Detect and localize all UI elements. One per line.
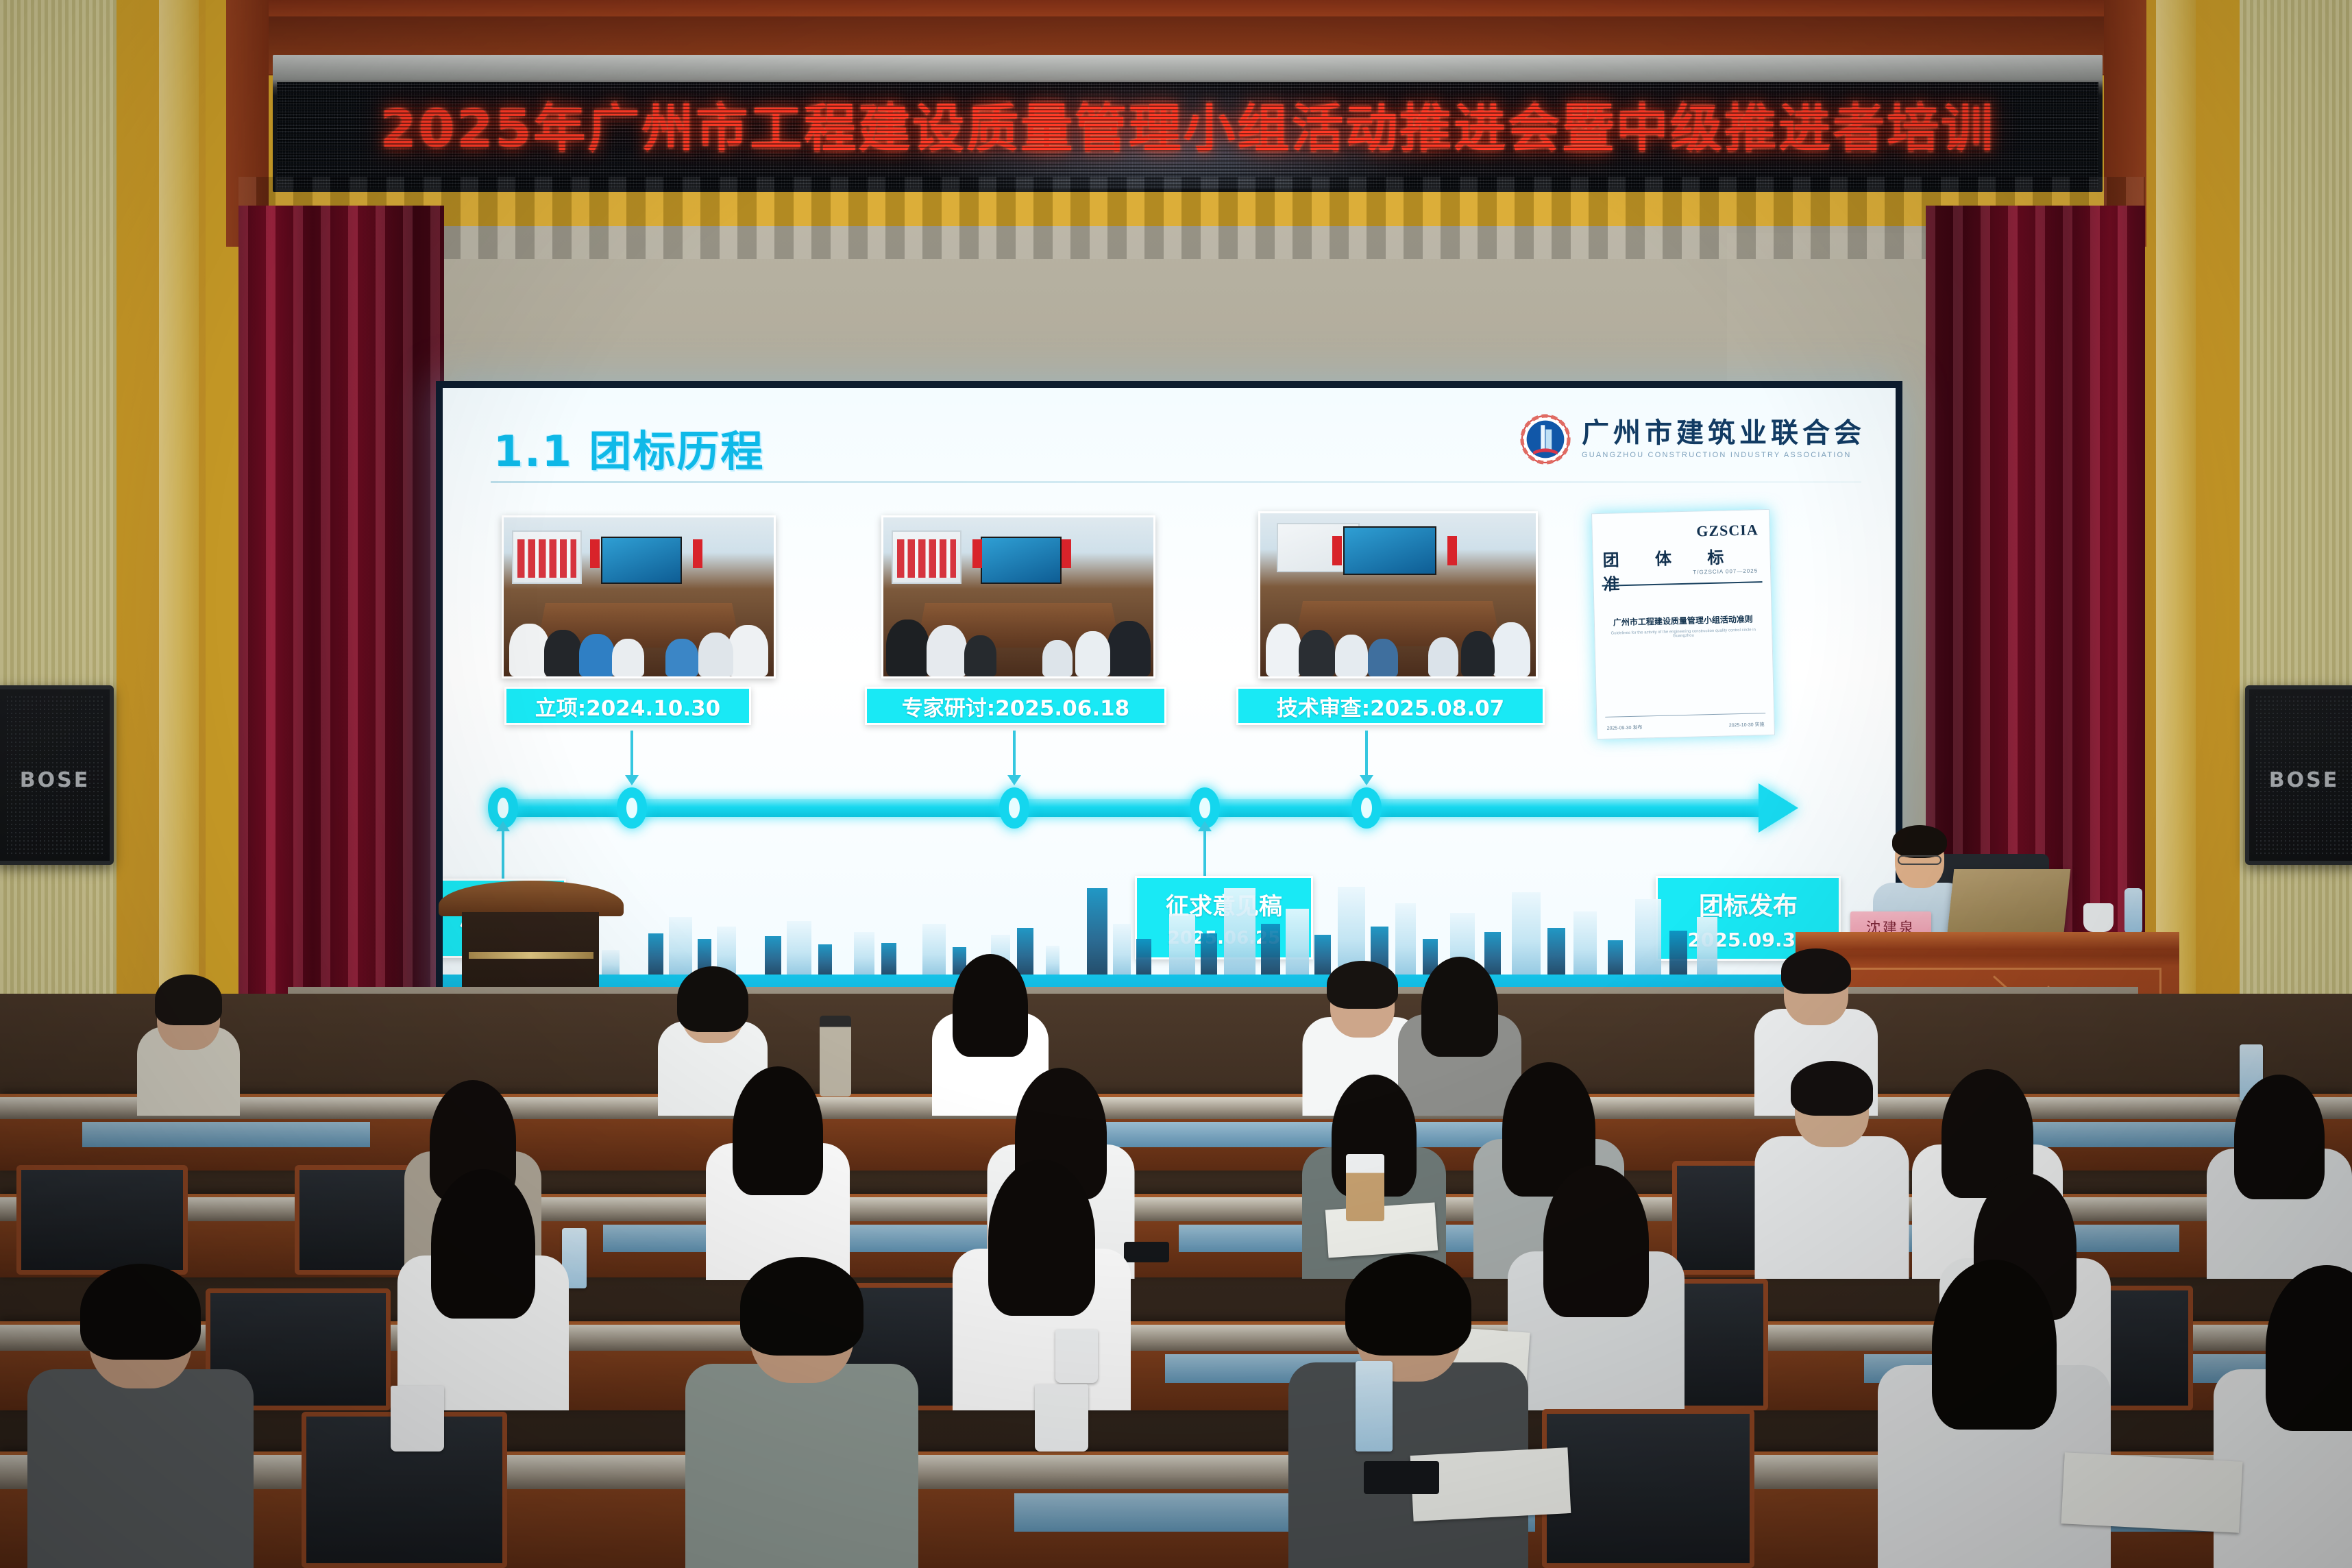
milestone-photo-2 xyxy=(881,515,1155,678)
photo-room-scene xyxy=(1260,513,1536,676)
document-title-cn: 广州市工程建设质量管理小组活动准则 xyxy=(1602,613,1765,628)
document-footer: 2025-09-30 发布 2025-10-30 实施 xyxy=(1607,721,1765,732)
milestone-caption-3: 技术审查:2025.08.07 xyxy=(1236,687,1545,725)
acoustic-panel-right xyxy=(2240,0,2352,1069)
timeline-stem-up-1 xyxy=(630,731,633,776)
conference-hall-scene: BOSE BOSE 2025年广州市工程建设质量管理小组活动推进会暨中级推进者培… xyxy=(0,0,2352,1568)
photo-flag-cn xyxy=(972,539,982,568)
milestone-photo-3 xyxy=(1258,511,1538,678)
timeline-stem-up-3 xyxy=(1365,731,1368,776)
paper-cup xyxy=(1055,1330,1098,1383)
photo-red-posters xyxy=(897,539,957,578)
head-table-edge xyxy=(1796,932,2179,950)
paper-sheet xyxy=(2061,1452,2242,1532)
attendee xyxy=(1508,1175,1685,1410)
wall-strip-right xyxy=(2156,0,2196,1069)
seat-back xyxy=(16,1165,188,1275)
photo-display-screen xyxy=(601,537,682,585)
milestone-photo-1 xyxy=(502,515,776,678)
attendee xyxy=(27,1275,254,1568)
water-bottle xyxy=(2124,888,2142,933)
led-banner: 2025年广州市工程建设质量管理小组活动推进会暨中级推进者培训 xyxy=(273,55,2103,192)
acoustic-panel-left xyxy=(0,0,117,1069)
led-scanline-overlay xyxy=(277,82,2098,189)
document-issue-date: 2025-09-30 发布 xyxy=(1607,724,1643,732)
timeline-node-3 xyxy=(999,787,1029,829)
attendee xyxy=(2207,1083,2352,1279)
association-name-en: GUANGZHOU CONSTRUCTION INDUSTRY ASSOCIAT… xyxy=(1582,451,1865,459)
curtain-valance xyxy=(238,177,2145,259)
attendee xyxy=(953,1169,1131,1410)
presentation-slide: 1.1 团标历程 广州市建筑业联合会 xyxy=(443,388,1896,1018)
wall-speaker-left: BOSE xyxy=(0,685,114,865)
milestone-caption-1: 立项:2024.10.30 xyxy=(504,687,751,725)
photo-flag-party xyxy=(1062,539,1071,568)
photo-attendees xyxy=(1260,602,1536,676)
association-name-cn: 广州市建筑业联合会 xyxy=(1582,419,1865,447)
document-footer-rule xyxy=(1605,713,1765,718)
speaker-brand-label: BOSE xyxy=(0,768,110,792)
attendee xyxy=(1754,1066,1909,1279)
timeline-arrow-icon xyxy=(1759,783,1798,833)
stage-curtain-left xyxy=(238,206,444,1076)
standard-document-thumbnail: GZSCIA 团 体 标 准 T/GZSCIA 007—2025 广州市工程建设… xyxy=(1591,509,1775,739)
timeline-bar xyxy=(499,799,1767,817)
photo-flag-cn xyxy=(1332,536,1342,565)
photo-attendees xyxy=(504,603,774,676)
speaker-brand-label: BOSE xyxy=(2249,768,2352,792)
document-org-code: GZSCIA xyxy=(1696,521,1759,540)
milestone-caption-2: 专家研讨:2025.06.18 xyxy=(865,687,1166,725)
paper-cup xyxy=(1035,1384,1088,1451)
association-emblem-icon xyxy=(1520,414,1571,465)
tea-cup xyxy=(2083,903,2114,932)
attendee xyxy=(685,1268,918,1568)
attendee xyxy=(1288,1265,1528,1568)
timeline-node-2 xyxy=(617,787,647,829)
water-bottle xyxy=(1356,1361,1393,1451)
wall-speaker-right: BOSE xyxy=(2245,685,2352,865)
lectern-top xyxy=(439,881,624,916)
association-logo: 广州市建筑业联合会 GUANGZHOU CONSTRUCTION INDUSTR… xyxy=(1520,414,1865,465)
lectern-trim xyxy=(469,952,593,959)
desk-glass-insert xyxy=(82,1122,370,1147)
seat-back xyxy=(1542,1409,1754,1568)
timeline-stem-down-2 xyxy=(1203,831,1206,879)
attendee xyxy=(137,979,240,1116)
slide-title: 1.1 团标历程 xyxy=(493,417,764,478)
paper-cup xyxy=(391,1386,444,1451)
photo-flag-party xyxy=(1447,536,1457,565)
iced-drink-cup xyxy=(1346,1154,1384,1221)
speaker-hair xyxy=(1892,825,1947,858)
timeline-node-5 xyxy=(1351,787,1382,829)
attendee xyxy=(706,1075,850,1280)
wall-strip-left xyxy=(159,0,199,1069)
led-screen-surface: 2025年广州市工程建设质量管理小组活动推进会暨中级推进者培训 xyxy=(277,82,2098,189)
curtain-folds xyxy=(238,206,444,1076)
photo-display-screen xyxy=(981,537,1062,585)
document-effect-date: 2025-10-30 实施 xyxy=(1729,721,1765,728)
photo-flag-cn xyxy=(590,539,600,568)
glasses-icon xyxy=(1898,855,1941,865)
photo-flag-party xyxy=(693,539,702,568)
document-title-en: Guidelines for the activity of the engin… xyxy=(1602,628,1765,640)
association-logo-text: 广州市建筑业联合会 GUANGZHOU CONSTRUCTION INDUSTR… xyxy=(1582,419,1865,459)
smartphone xyxy=(1364,1461,1439,1494)
timeline-stem-up-2 xyxy=(1013,731,1016,776)
photo-room-scene xyxy=(883,517,1153,676)
title-underline xyxy=(491,481,1861,483)
photo-red-posters xyxy=(517,539,577,578)
photo-display-screen xyxy=(1343,526,1437,575)
projection-screen: 1.1 团标历程 广州市建筑业联合会 xyxy=(436,381,1902,1025)
photo-room-scene xyxy=(504,517,774,676)
timeline-stem-down-1 xyxy=(502,831,504,879)
photo-attendees xyxy=(883,603,1153,676)
attendee xyxy=(397,1179,569,1410)
